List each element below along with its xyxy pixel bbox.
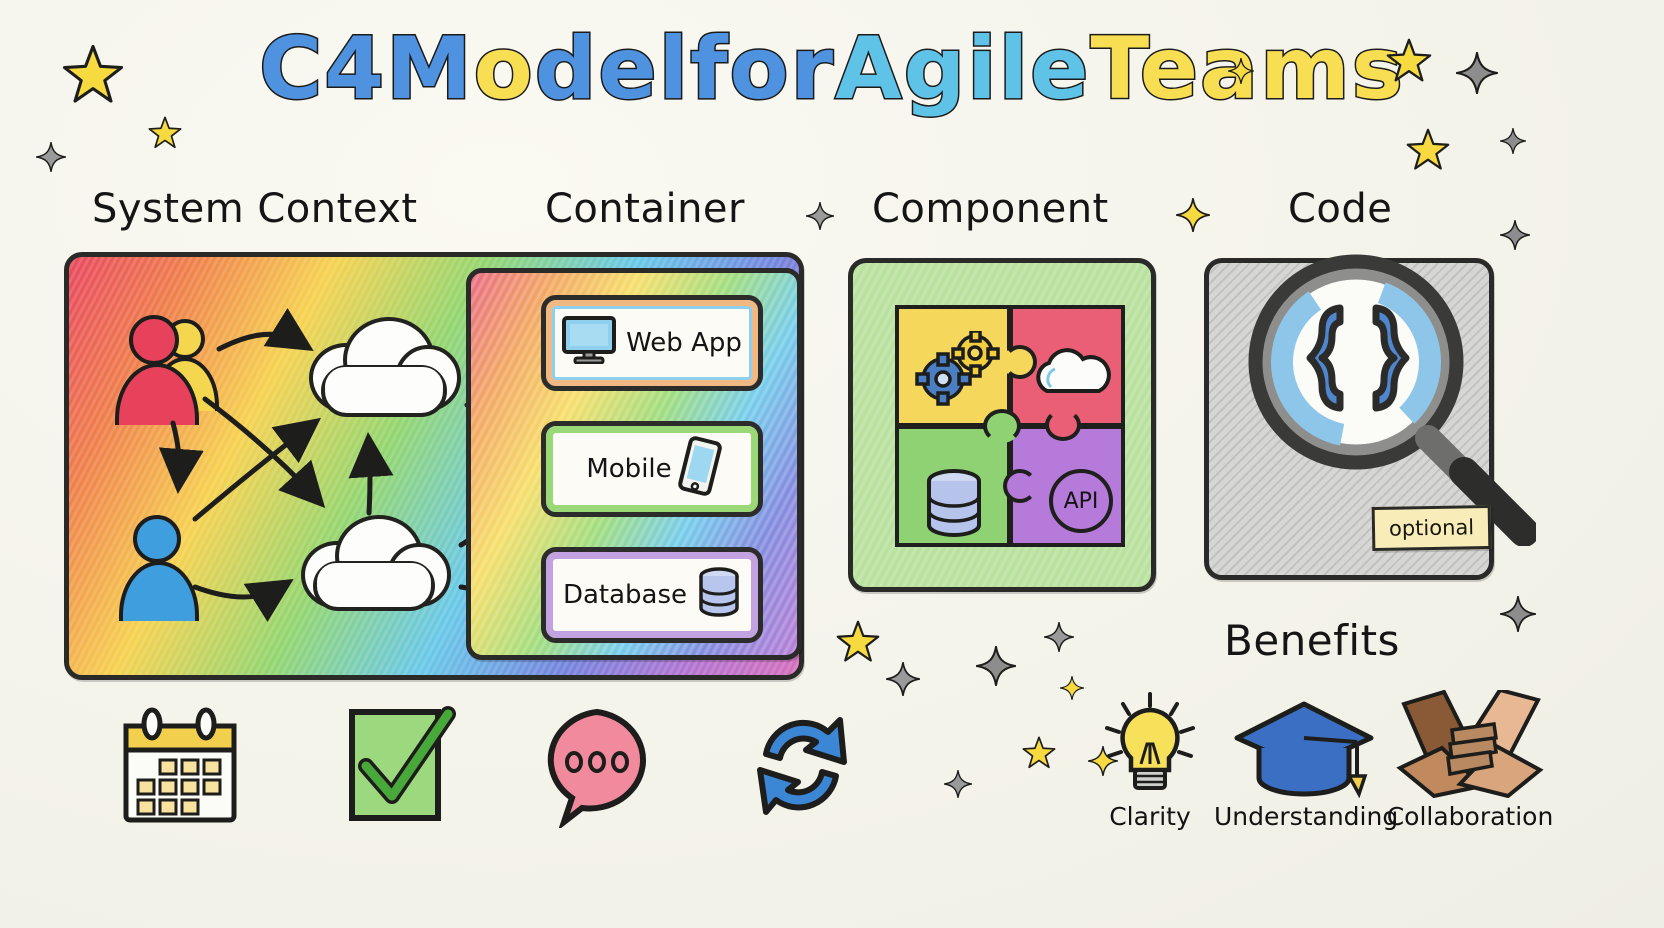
benefit-collaboration: Collaboration [1380, 690, 1560, 831]
sparkle-icon [1088, 746, 1118, 780]
calendar-icon [118, 706, 244, 832]
hands-together-icon [1380, 690, 1560, 802]
database-icon [923, 469, 985, 543]
api-icon: API [1049, 469, 1113, 533]
star-icon [1022, 736, 1056, 774]
external-system-top [291, 317, 477, 421]
phone-icon [682, 438, 718, 501]
heading-container: Container [545, 186, 745, 232]
sparkle-icon [886, 662, 920, 700]
sparkle-icon [806, 202, 834, 234]
iteration-cycle-icon [736, 702, 862, 832]
optional-sticky-note: optional [1372, 505, 1492, 551]
container-card-mobile[interactable]: Mobile [541, 421, 763, 517]
sparkle-icon [976, 646, 1016, 690]
sparkle-icon [36, 142, 66, 176]
infographic-canvas: C4 Model for Agile Teams System Context … [0, 0, 1664, 928]
component-panel: API [848, 258, 1156, 592]
checkmark-icon [344, 704, 456, 830]
sparkle-icon [1044, 622, 1074, 656]
lightbulb-icon [1060, 690, 1240, 802]
monitor-icon [562, 316, 616, 371]
puzzle-group: API [895, 305, 1123, 545]
benefit-label: Clarity [1060, 802, 1240, 831]
sparkle-icon [1176, 198, 1210, 236]
gears-icon [913, 331, 1005, 413]
external-system-bottom [287, 513, 467, 615]
heading-component: Component [872, 186, 1109, 232]
benefit-label: Understanding [1214, 802, 1394, 831]
sparkle-icon [944, 770, 972, 802]
star-icon [1406, 128, 1450, 176]
star-icon [148, 116, 182, 154]
sparkle-icon [1500, 596, 1536, 636]
star-icon [62, 44, 124, 110]
star-icon [1386, 38, 1432, 88]
puzzle-piece-database [895, 425, 1011, 547]
magnifier-icon [1236, 246, 1536, 546]
benefit-clarity: Clarity [1060, 690, 1240, 831]
title-part-o: o [474, 26, 535, 112]
container-card-database[interactable]: Database [541, 547, 763, 643]
title-part-agile: Agile [835, 26, 1090, 112]
sparkle-icon [1456, 52, 1498, 98]
container-panel: Web App Mobile Database [466, 268, 802, 660]
database-icon [697, 567, 741, 624]
container-card-label: Database [563, 580, 687, 610]
star-icon [836, 620, 880, 668]
container-card-web-app[interactable]: Web App [541, 295, 763, 391]
puzzle-piece-gears [895, 305, 1011, 427]
title-part-c4: C4 [259, 26, 386, 112]
sparkle-icon [1060, 676, 1084, 704]
cloud-icon [1031, 347, 1113, 399]
sparkle-icon [1228, 58, 1254, 88]
api-label: API [1064, 489, 1099, 514]
speech-bubble-icon [538, 706, 656, 832]
sparkle-icon [1500, 220, 1530, 254]
graduation-cap-icon [1214, 690, 1394, 802]
benefit-label: Collaboration [1380, 802, 1560, 831]
sparkle-icon [1500, 128, 1526, 158]
heading-code: Code [1288, 186, 1392, 232]
heading-benefits: Benefits [1224, 616, 1400, 665]
title-part-for: for [690, 26, 835, 112]
container-card-label: Web App [626, 328, 742, 358]
heading-system-context: System Context [92, 186, 418, 232]
benefit-understanding: Understanding [1214, 690, 1394, 831]
title-part-m: M [386, 26, 474, 112]
title-part-del: del [535, 26, 690, 112]
container-card-label: Mobile [586, 454, 671, 484]
